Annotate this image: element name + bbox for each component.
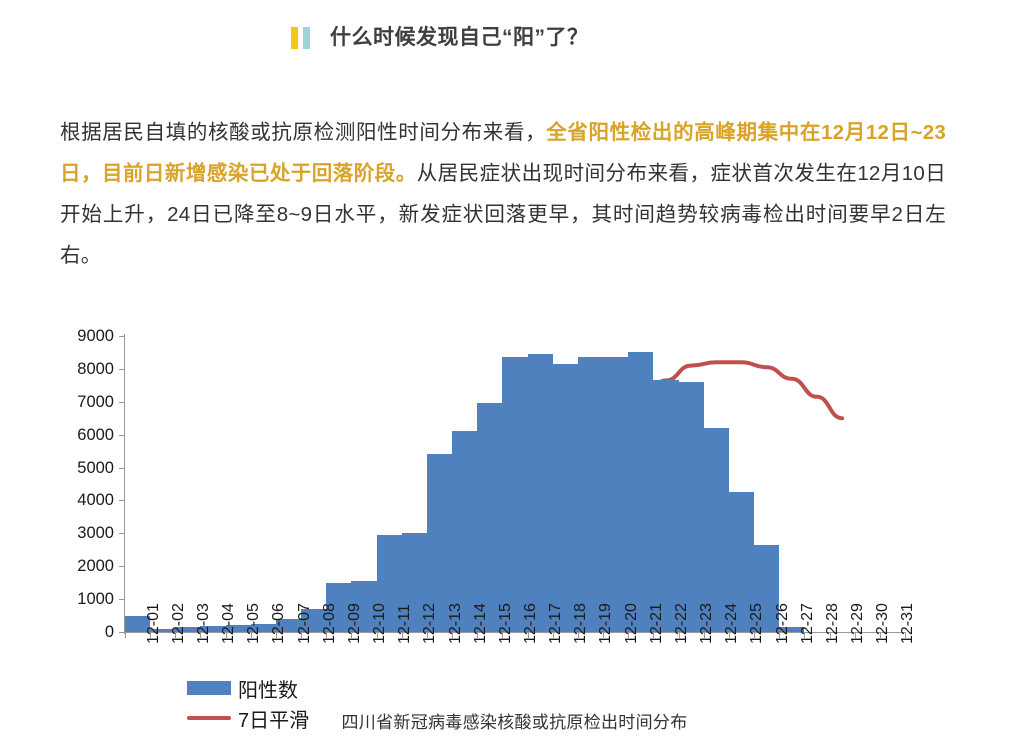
- y-axis-label: 4000: [77, 491, 114, 509]
- x-axis-label: 12-26: [774, 603, 792, 644]
- chart-bar: [477, 403, 502, 632]
- chart-bar: [653, 380, 678, 632]
- chart-bar: [502, 357, 527, 632]
- title-decoration-icon: [291, 27, 310, 49]
- y-axis-label: 0: [105, 623, 114, 641]
- y-axis-label: 6000: [77, 426, 114, 444]
- y-axis-tick: [119, 468, 125, 469]
- article-paragraph: 根据居民自填的核酸或抗原检测阳性时间分布来看，全省阳性检出的高峰期集中在12月1…: [60, 112, 946, 276]
- x-axis-label: 12-29: [849, 603, 867, 644]
- y-axis-tick: [119, 435, 125, 436]
- page-title-row: 什么时候发现自己“阳”了？: [291, 27, 589, 49]
- y-axis-label: 5000: [77, 459, 114, 477]
- figure-caption: 四川省新冠病毒感染核酸或抗原检出时间分布: [0, 708, 1029, 733]
- chart-container: 0100020003000400050006000700080009000 阳性…: [0, 318, 1029, 718]
- x-axis-label: 12-05: [245, 603, 263, 644]
- x-axis-label: 12-16: [522, 603, 540, 644]
- y-axis-tick: [119, 402, 125, 403]
- chart-bar: [553, 364, 578, 632]
- x-axis-label: 12-11: [396, 604, 414, 644]
- y-axis-label: 7000: [77, 393, 114, 411]
- x-axis-label: 12-22: [673, 603, 691, 644]
- x-axis-label: 12-04: [220, 603, 238, 644]
- x-axis-label: 12-31: [899, 603, 917, 644]
- chart-bar: [628, 352, 653, 632]
- x-axis-label: 12-15: [497, 603, 515, 644]
- page-title: 什么时候发现自己“阳”了？: [330, 27, 589, 49]
- chart-bar: [452, 431, 477, 632]
- x-axis-label: 12-27: [799, 603, 817, 644]
- plot-area: 0100020003000400050006000700080009000: [125, 336, 905, 632]
- x-axis-label: 12-12: [421, 603, 439, 644]
- x-axis-label: 12-02: [170, 603, 188, 644]
- x-axis-label: 12-30: [874, 603, 892, 644]
- y-axis-tick: [119, 566, 125, 567]
- x-axis-tick: [125, 632, 126, 638]
- x-axis-label: 12-24: [723, 603, 741, 644]
- x-axis-label: 12-17: [547, 603, 565, 644]
- chart-bar: [578, 357, 603, 632]
- y-axis-tick: [119, 500, 125, 501]
- chart-bar: [679, 382, 704, 632]
- y-axis-tick: [119, 599, 125, 600]
- legend-item-bar: 阳性数: [187, 673, 309, 703]
- x-axis-label: 12-25: [748, 603, 766, 644]
- paragraph-segment-1: 根据居民自填的核酸或抗原检测阳性时间分布来看，: [60, 121, 546, 144]
- x-axis-label: 12-28: [824, 603, 842, 644]
- x-axis-label: 12-20: [623, 603, 641, 644]
- x-axis-label: 12-10: [371, 603, 389, 644]
- x-axis-label: 12-23: [698, 603, 716, 644]
- x-axis-label: 12-06: [270, 603, 288, 644]
- x-axis-label: 12-13: [447, 603, 465, 644]
- chart-bar: [528, 354, 553, 632]
- y-axis-label: 1000: [77, 590, 114, 608]
- chart-inner: 0100020003000400050006000700080009000 阳性…: [0, 318, 1029, 718]
- x-axis-label: 12-01: [145, 603, 163, 644]
- legend-label-bar: 阳性数: [238, 674, 298, 703]
- y-axis-tick: [119, 533, 125, 534]
- y-axis-tick: [119, 336, 125, 337]
- chart-bar: [603, 357, 628, 632]
- x-axis-label: 12-14: [472, 603, 490, 644]
- chart-bar: [704, 428, 729, 632]
- x-axis-label: 12-08: [321, 603, 339, 644]
- y-axis-tick: [119, 369, 125, 370]
- x-axis-label: 12-03: [195, 603, 213, 644]
- x-axis-label: 12-21: [648, 603, 666, 644]
- x-axis-label: 12-19: [597, 603, 615, 644]
- y-axis-label: 3000: [77, 524, 114, 542]
- x-axis-label: 12-07: [296, 603, 314, 644]
- x-axis-label: 12-09: [346, 603, 364, 644]
- y-axis-label: 2000: [77, 557, 114, 575]
- y-axis-label: 9000: [77, 327, 114, 345]
- y-axis-label: 8000: [77, 360, 114, 378]
- x-axis-label: 12-18: [572, 603, 590, 644]
- legend-swatch-bar-icon: [187, 681, 231, 695]
